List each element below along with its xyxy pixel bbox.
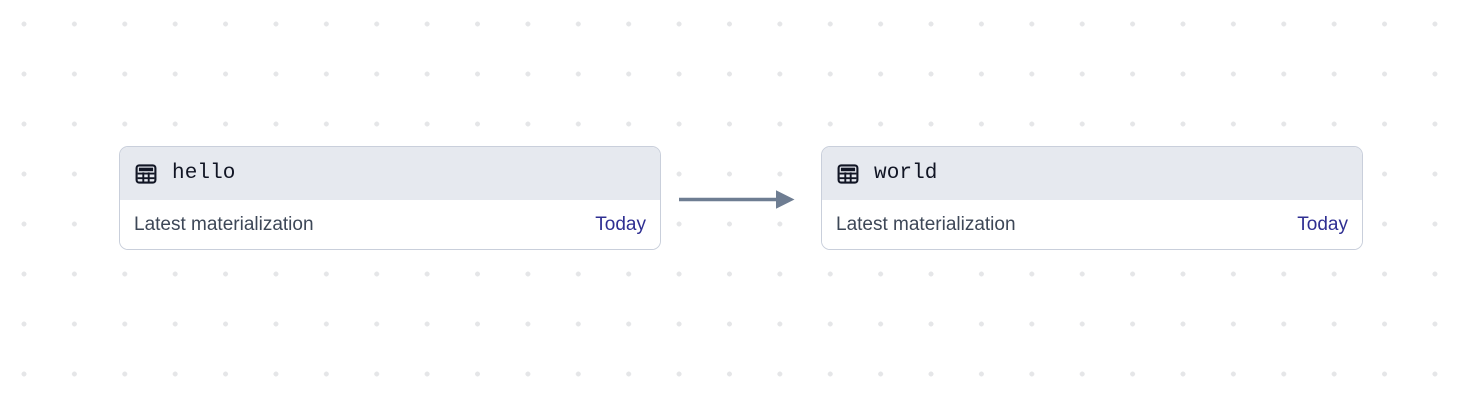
asset-node-title: world [874, 162, 938, 186]
latest-materialization-value[interactable]: Today [595, 213, 646, 236]
table-icon [836, 162, 860, 186]
lineage-canvas[interactable]: hello Latest materialization Today world… [0, 0, 1480, 400]
asset-node-body: Latest materialization Today [822, 200, 1362, 249]
asset-node-body: Latest materialization Today [120, 200, 660, 249]
asset-node-world[interactable]: world Latest materialization Today [821, 146, 1363, 250]
table-icon [134, 162, 158, 186]
asset-node-title: hello [172, 162, 236, 186]
asset-node-header[interactable]: world [822, 147, 1362, 200]
latest-materialization-label: Latest materialization [836, 213, 1016, 236]
latest-materialization-value[interactable]: Today [1297, 213, 1348, 236]
edge-hello-to-world [676, 186, 798, 214]
latest-materialization-label: Latest materialization [134, 213, 314, 236]
asset-node-header[interactable]: hello [120, 147, 660, 200]
asset-node-hello[interactable]: hello Latest materialization Today [119, 146, 661, 250]
